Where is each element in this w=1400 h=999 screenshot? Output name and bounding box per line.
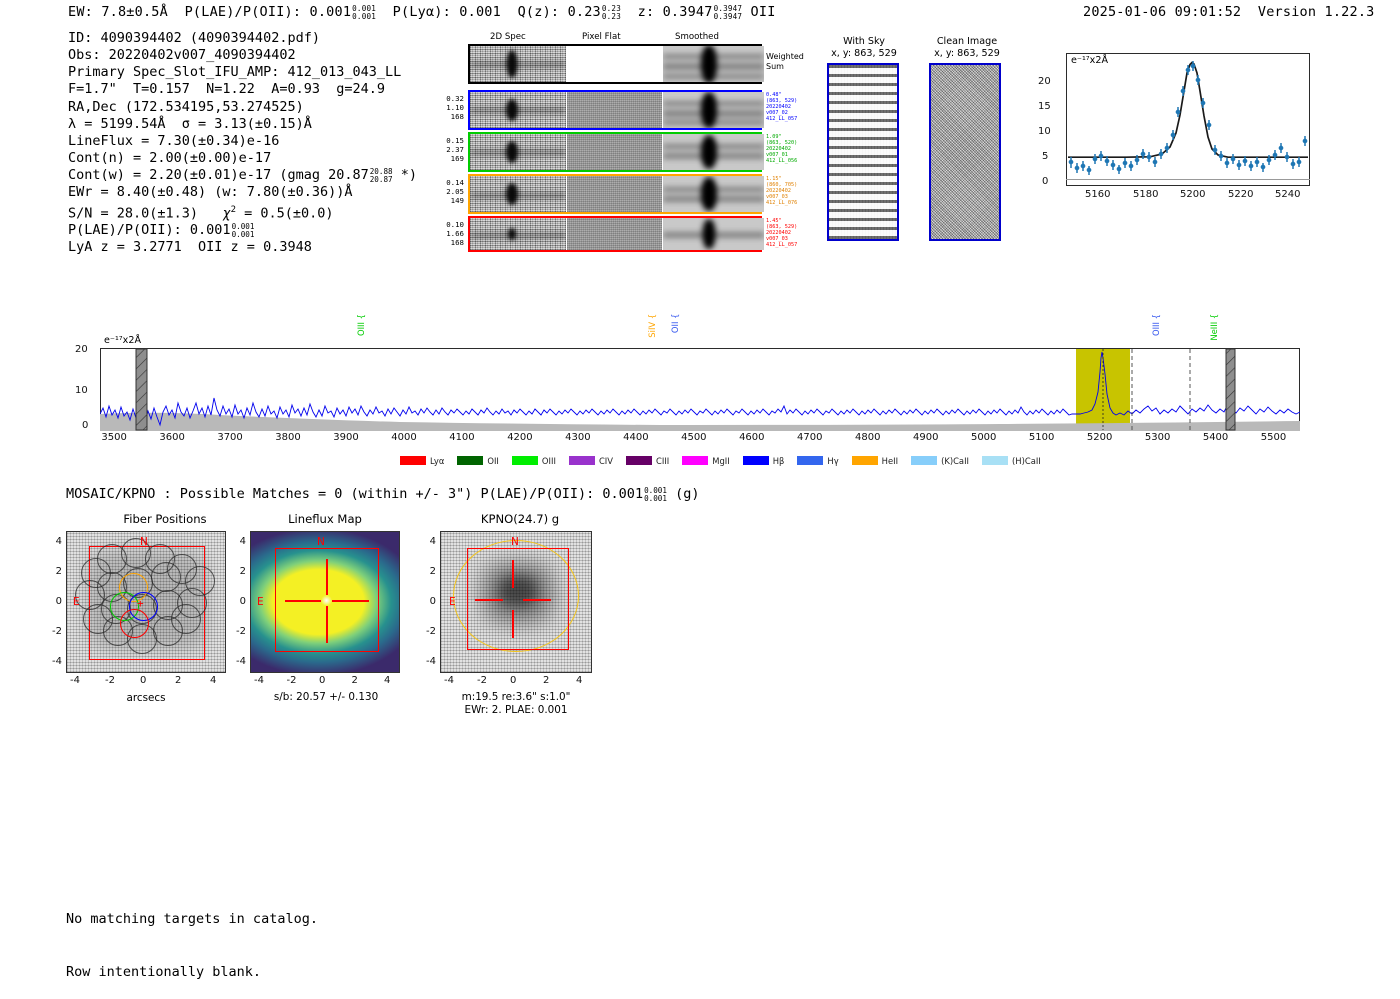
fiber-positions-xtick-2: 0 <box>140 675 146 686</box>
fiber-row-0-pixelflat <box>567 92 662 128</box>
zoom-ytick-5: 5 <box>1042 151 1048 162</box>
lineflux-map-title: Lineflux Map <box>245 512 405 526</box>
fiber-row-1-pixelflat <box>567 134 662 170</box>
mosaic-text: MOSAIC/KPNO : Possible Matches = 0 (with… <box>66 486 643 502</box>
lineflux-map-north-label: N <box>317 536 325 548</box>
lineflux-map-ytick-3: -2 <box>236 626 246 637</box>
mosaic-filter: (g) <box>675 486 699 502</box>
legend-swatch-Ly <box>400 456 426 465</box>
emission-line-label-OIII-6: OIII { <box>357 314 366 336</box>
full-spectrum-chart: e⁻¹⁷x2Å 0 10 20 <box>100 348 1300 431</box>
kpno-north-label: N <box>511 536 519 548</box>
kpno-image-xtick-3: 2 <box>543 675 549 686</box>
spectrum-x-axis-ticks: 3500360037003800390040004100420043004400… <box>100 432 1300 448</box>
fiber-row-2-pixelflat <box>567 176 662 212</box>
lineflux-map-ytick-4: -4 <box>236 656 246 667</box>
fiber-row-3 <box>468 216 762 252</box>
info-plae-errors: 0.0010.001 <box>232 223 255 239</box>
kpno-image-ytick-3: -2 <box>426 626 436 637</box>
zoom-plot-curve <box>1066 53 1310 186</box>
emission-line-label-NeIII-34: NeIII { <box>1210 314 1219 341</box>
lineflux-map-xtick-1: -2 <box>287 675 297 686</box>
fiber-row-0 <box>468 90 762 130</box>
lineflux-map-east-label: E <box>257 596 264 608</box>
header-plae-errors: 0.0010.001 <box>352 5 376 21</box>
spectrum-xtick-4300: 4300 <box>565 432 590 443</box>
legend-swatch-HCaII <box>982 456 1008 465</box>
spectrum-xtick-3800: 3800 <box>275 432 300 443</box>
legend-swatch-MgII <box>682 456 708 465</box>
fiber-positions-ytick-1: 2 <box>56 566 62 577</box>
info-radec: RA,Dec (172.534195,53.274525) <box>68 99 417 116</box>
fiber-row-3-2dspec <box>470 218 566 250</box>
col-title-2dspec: 2D Spec <box>490 32 526 42</box>
zoom-ytick-10: 10 <box>1038 126 1051 137</box>
spectrum-legend: LyαOIIOIIICIVCIIIMgIIHβHγHeII(K)CaII(H)C… <box>400 455 1054 466</box>
fiber-positions-ytick-4: -4 <box>52 656 62 667</box>
emission-line-label-OII-18: OII { <box>671 314 680 334</box>
header-qz-label: Q(z): <box>518 4 560 20</box>
legend-swatch-CIII <box>626 456 652 465</box>
clean-image-title: Clean Image x, y: 863, 529 <box>922 36 1012 60</box>
legend-label-MgII: MgII <box>712 456 729 466</box>
info-gmag-errors: 20.8820.87 <box>370 168 393 184</box>
full-spectrum-curve <box>100 348 1300 431</box>
zoom-xtick-5180: 5180 <box>1133 189 1158 200</box>
header-plae-value: 0.001 <box>310 4 352 20</box>
weighted-sum-pixelflat <box>567 46 662 82</box>
header-z-species: OII <box>751 4 776 20</box>
legend-label-H: Hβ <box>773 456 785 466</box>
spectrum-xtick-4100: 4100 <box>449 432 474 443</box>
kpno-image <box>440 531 592 673</box>
header-ew-label: EW: <box>68 4 93 20</box>
lineflux-map-caption: s/b: 20.57 +/- 0.130 <box>240 691 412 704</box>
header-plae-label: P(LAE)/P(OII): <box>185 4 302 20</box>
info-primary-spec: Primary Spec_Slot_IFU_AMP: 412_013_043_L… <box>68 64 417 81</box>
kpno-image-xtick-4: 4 <box>576 675 582 686</box>
weighted-sum-smoothed <box>663 46 764 82</box>
zoom-ytick-0: 0 <box>1042 176 1048 187</box>
with-sky-cutout <box>827 63 899 241</box>
spectrum-ytick-0: 0 <box>82 420 88 431</box>
spectrum-xtick-3500: 3500 <box>101 432 126 443</box>
info-lineflux: LineFlux = 7.30(±0.34)e-16 <box>68 133 417 150</box>
spectrum-xtick-4800: 4800 <box>855 432 880 443</box>
fiber-positions-ytick-3: -2 <box>52 626 62 637</box>
info-seeing-params: F=1.7" T=0.157 N=1.22 A=0.93 g=24.9 <box>68 81 417 98</box>
header-qz-value: 0.23 <box>568 4 601 20</box>
legend-swatch-KCaII <box>911 456 937 465</box>
legend-swatch-H <box>797 456 823 465</box>
fiber-positions-xlabel: arcsecs <box>66 692 226 705</box>
zoom-xtick-5200: 5200 <box>1180 189 1205 200</box>
spectrum-xtick-4400: 4400 <box>623 432 648 443</box>
info-redshifts: LyA z = 3.2771 OII z = 0.3948 <box>68 239 417 256</box>
info-cont-w: Cont(w) = 2.20(±0.01)e-17 (gmag 20.8720.… <box>68 167 417 184</box>
weighted-sum-label: Weighted Sum <box>766 52 804 72</box>
emission-line-label-OIII-32: OIII { <box>1152 314 1161 336</box>
fiber-row-1-stats: 0.152.37169 <box>432 136 464 164</box>
header-plya-label: P(Lyα): <box>393 4 451 20</box>
fiber-row-3-smoothed <box>663 218 764 250</box>
fiber-row-2-meta: 1.15"(860, 705)20220402v007_03412_LL_076 <box>766 176 797 206</box>
lineflux-map-xtick-3: 2 <box>352 675 358 686</box>
lineflux-map-ytick-2: 0 <box>240 596 246 607</box>
zoom-ytick-15: 15 <box>1038 101 1051 112</box>
zoom-emission-line-chart: e⁻¹⁷x2Å <box>1038 47 1310 212</box>
spectrum-ytick-10: 10 <box>75 385 88 396</box>
fiber-row-2-smoothed <box>663 176 764 212</box>
footer-note: No matching targets in catalog. Row inte… <box>66 876 318 999</box>
legend-swatch-OIII <box>512 456 538 465</box>
info-obs: Obs: 20220402v007_4090394402 <box>68 47 417 64</box>
weighted-sum-row <box>468 44 762 84</box>
info-cont-n: Cont(n) = 2.00(±0.00)e-17 <box>68 150 417 167</box>
fiber-row-0-meta: 0.48"(863, 529)20220402v007_02412_LL_057 <box>766 92 797 122</box>
kpno-image-xtick-2: 0 <box>510 675 516 686</box>
zoom-xtick-5240: 5240 <box>1275 189 1300 200</box>
zoom-xtick-5160: 5160 <box>1085 189 1110 200</box>
spectrum-xtick-5300: 5300 <box>1145 432 1170 443</box>
spectrum-xtick-4700: 4700 <box>797 432 822 443</box>
fiber-center-cross: + <box>137 600 144 608</box>
info-ewr: EWr = 8.40(±0.48) (w: 7.80(±0.36))Å <box>68 184 417 201</box>
legend-label-OII: OII <box>487 456 499 466</box>
fiber-positions-north-label: N <box>140 536 148 548</box>
report-timestamp: 2025-01-06 09:01:52 <box>1083 4 1241 20</box>
col-title-smoothed: Smoothed <box>675 32 719 42</box>
fiber-positions-yticks: 420-2-4 <box>40 531 64 673</box>
fiber-positions-east-label: E <box>73 596 80 608</box>
kpno-image-ytick-1: 2 <box>430 566 436 577</box>
fiber-positions-xtick-3: 2 <box>175 675 181 686</box>
spectrum-xtick-3700: 3700 <box>217 432 242 443</box>
info-wavelength-sigma: λ = 5199.54Å σ = 3.13(±0.15)Å <box>68 116 417 133</box>
legend-label-HCaII: (H)CaII <box>1012 456 1041 466</box>
footer-line-2: Row intentionally blank. <box>66 964 318 982</box>
spectrum-xtick-4600: 4600 <box>739 432 764 443</box>
lineflux-map-yticks: 420-2-4 <box>224 531 248 673</box>
legend-label-CIV: CIV <box>599 456 613 466</box>
fiber-positions-image: + <box>66 531 226 673</box>
fiber-row-0-2dspec <box>470 92 566 128</box>
kpno-yticks: 420-2-4 <box>414 531 438 673</box>
col-title-pixelflat: Pixel Flat <box>582 32 621 42</box>
fiber-row-3-pixelflat <box>567 218 662 250</box>
info-id: ID: 4090394402 (4090394402.pdf) <box>68 30 417 47</box>
spectrum-xtick-4000: 4000 <box>391 432 416 443</box>
spectrum-xtick-5500: 5500 <box>1261 432 1286 443</box>
kpno-image-ytick-0: 4 <box>430 536 436 547</box>
lineflux-map-image <box>250 531 400 673</box>
with-sky-title: With Sky x, y: 863, 529 <box>822 36 906 60</box>
kpno-image-xtick-1: -2 <box>477 675 487 686</box>
fiber-highlight-red <box>120 609 149 638</box>
weighted-sum-2dspec <box>470 46 566 82</box>
fiber-row-2-stats: 0.142.05149 <box>432 178 464 206</box>
legend-swatch-CIV <box>569 456 595 465</box>
header-plya-value: 0.001 <box>459 4 501 20</box>
fiber-row-0-smoothed <box>663 92 764 128</box>
spectrum-xtick-4500: 4500 <box>681 432 706 443</box>
footer-line-1: No matching targets in catalog. <box>66 911 318 929</box>
legend-label-CIII: CIII <box>656 456 669 466</box>
kpno-image-ytick-2: 0 <box>430 596 436 607</box>
lineflux-map-xticks: -4-2024 <box>250 675 400 689</box>
clean-image-cutout <box>929 63 1001 241</box>
legend-label-KCaII: (K)CaII <box>941 456 969 466</box>
header-summary-line: EW: 7.8±0.5Å P(LAE)/P(OII): 0.0010.0010.… <box>68 4 776 20</box>
fiber-positions-xtick-1: -2 <box>105 675 115 686</box>
spectrum-xtick-3900: 3900 <box>333 432 358 443</box>
spec2d-panel: 2D Spec Pixel Flat Smoothed Weighted Sum… <box>430 32 790 250</box>
info-sn-chi2: S/N = 28.0(±1.3) χ2 = 0.5(±0.0) <box>68 202 417 223</box>
legend-label-Ly: Lyα <box>430 456 444 466</box>
spectrum-ytick-20: 20 <box>75 344 88 355</box>
header-z-label: z: <box>638 4 655 20</box>
fiber-row-2 <box>468 174 762 214</box>
fiber-row-1-2dspec <box>470 134 566 170</box>
fiber-positions-xticks: -4-2024 <box>66 675 226 689</box>
fiber-positions-ytick-0: 4 <box>56 536 62 547</box>
legend-label-OIII: OIII <box>542 456 556 466</box>
kpno-image-title: KPNO(24.7) g <box>440 512 600 526</box>
zoom-ytick-20: 20 <box>1038 76 1051 87</box>
legend-label-H: Hγ <box>827 456 838 466</box>
header-ew-value: 7.8±0.5Å <box>101 4 168 20</box>
header-z-errors: 0.39470.3947 <box>714 5 743 21</box>
zoom-xtick-5220: 5220 <box>1228 189 1253 200</box>
lineflux-map-xtick-4: 4 <box>384 675 390 686</box>
full-spectrum-units-label: e⁻¹⁷x2Å <box>104 335 141 346</box>
spectrum-xtick-5000: 5000 <box>971 432 996 443</box>
lineflux-map-ytick-1: 2 <box>240 566 246 577</box>
fiber-row-3-stats: 0.101.66168 <box>432 220 464 248</box>
fiber-positions-ytick-2: 0 <box>56 596 62 607</box>
header-version-block: 2025-01-06 09:01:52 Version 1.22.3 <box>1083 4 1374 20</box>
fiber-row-0-stats: 0.321.10168 <box>432 94 464 122</box>
report-version: Version 1.22.3 <box>1258 4 1375 20</box>
header-qz-errors: 0.230.23 <box>602 5 621 21</box>
kpno-image-xtick-0: -4 <box>444 675 454 686</box>
fiber-row-1-smoothed <box>663 134 764 170</box>
spectrum-xtick-5100: 5100 <box>1029 432 1054 443</box>
legend-label-HeII: HeII <box>882 456 898 466</box>
mosaic-summary-line: MOSAIC/KPNO : Possible Matches = 0 (with… <box>66 486 699 502</box>
info-plae: P(LAE)/P(OII): 0.0010.0010.001 <box>68 222 417 239</box>
lineflux-map-xtick-2: 0 <box>319 675 325 686</box>
source-info-block: ID: 4090394402 (4090394402.pdf) Obs: 202… <box>68 30 417 257</box>
emission-line-label-SiIV-16: SiIV { <box>648 314 657 338</box>
kpno-caption: m:19.5 re:3.6" s:1.0" EWr: 2. PLAE: 0.00… <box>428 691 604 717</box>
lineflux-map-ytick-0: 4 <box>240 536 246 547</box>
spectrum-xtick-3600: 3600 <box>159 432 184 443</box>
kpno-xticks: -4-2024 <box>440 675 592 689</box>
fiber-row-1-meta: 1.09"(863, 520)20220402v007_01412_LL_056 <box>766 134 797 164</box>
kpno-image-ytick-4: -4 <box>426 656 436 667</box>
spectrum-xtick-5400: 5400 <box>1203 432 1228 443</box>
spectrum-xtick-4900: 4900 <box>913 432 938 443</box>
fiber-positions-title: Fiber Positions <box>70 512 260 526</box>
mosaic-plae-errors: 0.0010.001 <box>644 487 667 503</box>
fiber-row-1 <box>468 132 762 172</box>
fiber-row-3-meta: 1.45"(863, 529)20220402v007_03412_LL_057 <box>766 218 797 248</box>
fiber-positions-xtick-0: -4 <box>70 675 80 686</box>
kpno-east-label: E <box>449 596 456 608</box>
fiber-row-2-2dspec <box>470 176 566 212</box>
legend-swatch-HeII <box>852 456 878 465</box>
spectrum-xtick-4200: 4200 <box>507 432 532 443</box>
legend-swatch-OII <box>457 456 483 465</box>
legend-swatch-H <box>743 456 769 465</box>
lineflux-map-xtick-0: -4 <box>254 675 264 686</box>
fiber-positions-xtick-4: 4 <box>210 675 216 686</box>
emission-line-labels: CIII {MgII {MgII {SiIV {Lyα {OII {OIII {… <box>100 276 1300 348</box>
header-z-value: 0.3947 <box>663 4 713 20</box>
spectrum-xtick-5200: 5200 <box>1087 432 1112 443</box>
